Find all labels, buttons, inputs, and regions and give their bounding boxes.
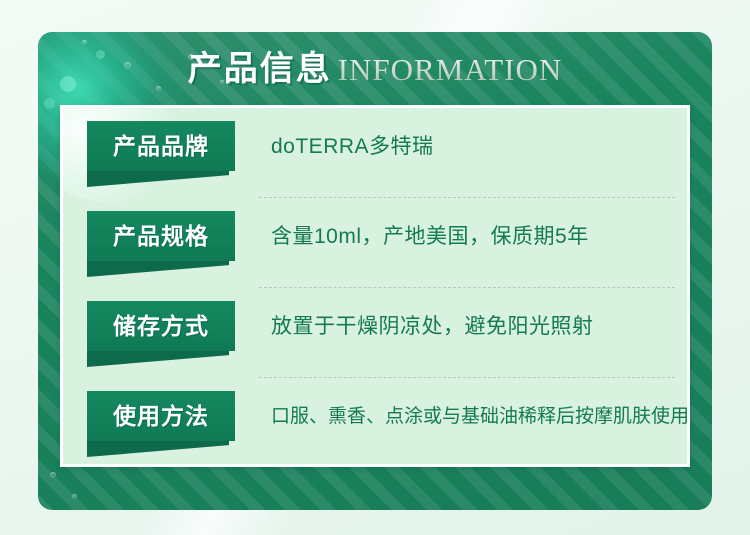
page-title-cn: 产品信息 xyxy=(188,52,332,86)
row-value: 含量10ml，产地美国，保质期5年 xyxy=(271,226,589,247)
info-row-storage: 储存方式 放置于干燥阴凉处，避免阳光照射 xyxy=(63,288,687,378)
row-value: 放置于干燥阴凉处，避免阳光照射 xyxy=(271,316,594,337)
outer-green-frame: 产品信息 INFORMATION 产品品牌 doTERRA多特瑞 xyxy=(38,32,712,510)
row-label: 产品品牌 xyxy=(113,135,209,158)
ribbon-box: 产品品牌 xyxy=(87,121,235,171)
info-row-list: 产品品牌 doTERRA多特瑞 产品规格 xyxy=(63,108,687,467)
ribbon-label-usage: 使用方法 xyxy=(87,391,235,441)
ribbon-label-brand: 产品品牌 xyxy=(87,121,235,171)
ribbon-label-storage: 储存方式 xyxy=(87,301,235,351)
row-value: doTERRA多特瑞 xyxy=(271,136,434,157)
info-row-usage: 使用方法 口服、熏香、点涂或与基础油稀释后按摩肌肤使用 xyxy=(63,378,687,467)
ribbon-box: 使用方法 xyxy=(87,391,235,441)
bottom-striped-strip xyxy=(38,467,712,510)
product-information-graphic: 产品信息 INFORMATION 产品品牌 doTERRA多特瑞 xyxy=(0,0,750,535)
info-row-brand: 产品品牌 doTERRA多特瑞 xyxy=(63,108,687,198)
header-title-group: 产品信息 INFORMATION xyxy=(188,52,563,86)
ribbon-box: 产品规格 xyxy=(87,211,235,261)
info-row-specification: 产品规格 含量10ml，产地美国，保质期5年 xyxy=(63,198,687,288)
ribbon-box: 储存方式 xyxy=(87,301,235,351)
header-band: 产品信息 INFORMATION xyxy=(38,32,712,105)
info-panel: 产品品牌 doTERRA多特瑞 产品规格 xyxy=(60,105,690,467)
ribbon-label-specification: 产品规格 xyxy=(87,211,235,261)
row-value: 口服、熏香、点涂或与基础油稀释后按摩肌肤使用 xyxy=(271,407,689,426)
row-label: 产品规格 xyxy=(113,225,209,248)
page-title-en: INFORMATION xyxy=(338,54,563,85)
row-label: 储存方式 xyxy=(113,315,209,338)
row-label: 使用方法 xyxy=(113,405,209,428)
